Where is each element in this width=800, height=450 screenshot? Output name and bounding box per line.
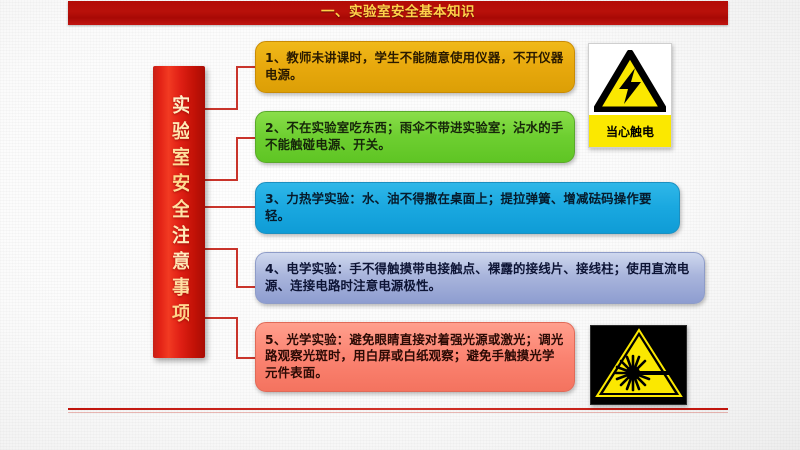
safety-item-text-3: 3、力热学实验：水、油不得撒在桌面上；提拉弹簧、增减砝码操作要轻。 [265, 191, 671, 224]
laser-beam-triangle-icon [595, 327, 683, 403]
electric-shock-warning-sign: 当心触电 [588, 43, 672, 148]
page-title: 一、实验室安全基本知识 [321, 6, 475, 20]
safety-item-card-2[interactable]: 2、不在实验室吃东西；雨伞不带进实验室；沾水的手不能触碰电源、开关。 [255, 111, 575, 163]
side-banner-label: 实验室安全注意事项 [169, 95, 189, 329]
laser-warning-sign [590, 325, 687, 405]
safety-item-card-5[interactable]: 5、光学实验：避免眼睛直接对着强光源或激光；调光路观察光斑时，用白屏或白纸观察；… [255, 322, 575, 392]
safety-item-card-3[interactable]: 3、力热学实验：水、油不得撒在桌面上；提拉弹簧、增减砝码操作要轻。 [255, 182, 680, 234]
electric-shock-label-band: 当心触电 [589, 115, 671, 147]
bottom-divider [68, 408, 728, 410]
connector-line-1 [205, 60, 257, 110]
safety-item-card-4[interactable]: 4、电学实验：手不得触摸带电接触点、裸露的接线片、接线柱；使用直流电源、连接电路… [255, 252, 705, 304]
safety-item-card-1[interactable]: 1、教师未讲课时，学生不能随意使用仪器，不开仪器电源。 [255, 41, 575, 93]
electric-shock-label: 当心触电 [606, 123, 654, 140]
bottom-divider-shadow [68, 412, 728, 413]
safety-item-text-5: 5、光学实验：避免眼睛直接对着强光源或激光；调光路观察光斑时，用白屏或白纸观察；… [265, 332, 566, 381]
side-banner: 实验室安全注意事项 [153, 66, 205, 358]
connector-line-3 [205, 206, 257, 210]
connector-line-2 [205, 131, 257, 181]
connector-line-5 [205, 317, 257, 362]
slide-canvas: 一、实验室安全基本知识 实验室安全注意事项 1、教师未讲课时，学生不能随意使用仪… [0, 0, 800, 450]
safety-item-text-1: 1、教师未讲课时，学生不能随意使用仪器，不开仪器电源。 [265, 50, 566, 83]
connector-line-4 [205, 248, 257, 293]
safety-item-text-2: 2、不在实验室吃东西；雨伞不带进实验室；沾水的手不能触碰电源、开关。 [265, 120, 566, 153]
lightning-bolt-triangle-icon [593, 49, 667, 113]
slide-title-banner: 一、实验室安全基本知识 [68, 1, 728, 25]
safety-item-text-4: 4、电学实验：手不得触摸带电接触点、裸露的接线片、接线柱；使用直流电源、连接电路… [265, 261, 696, 294]
